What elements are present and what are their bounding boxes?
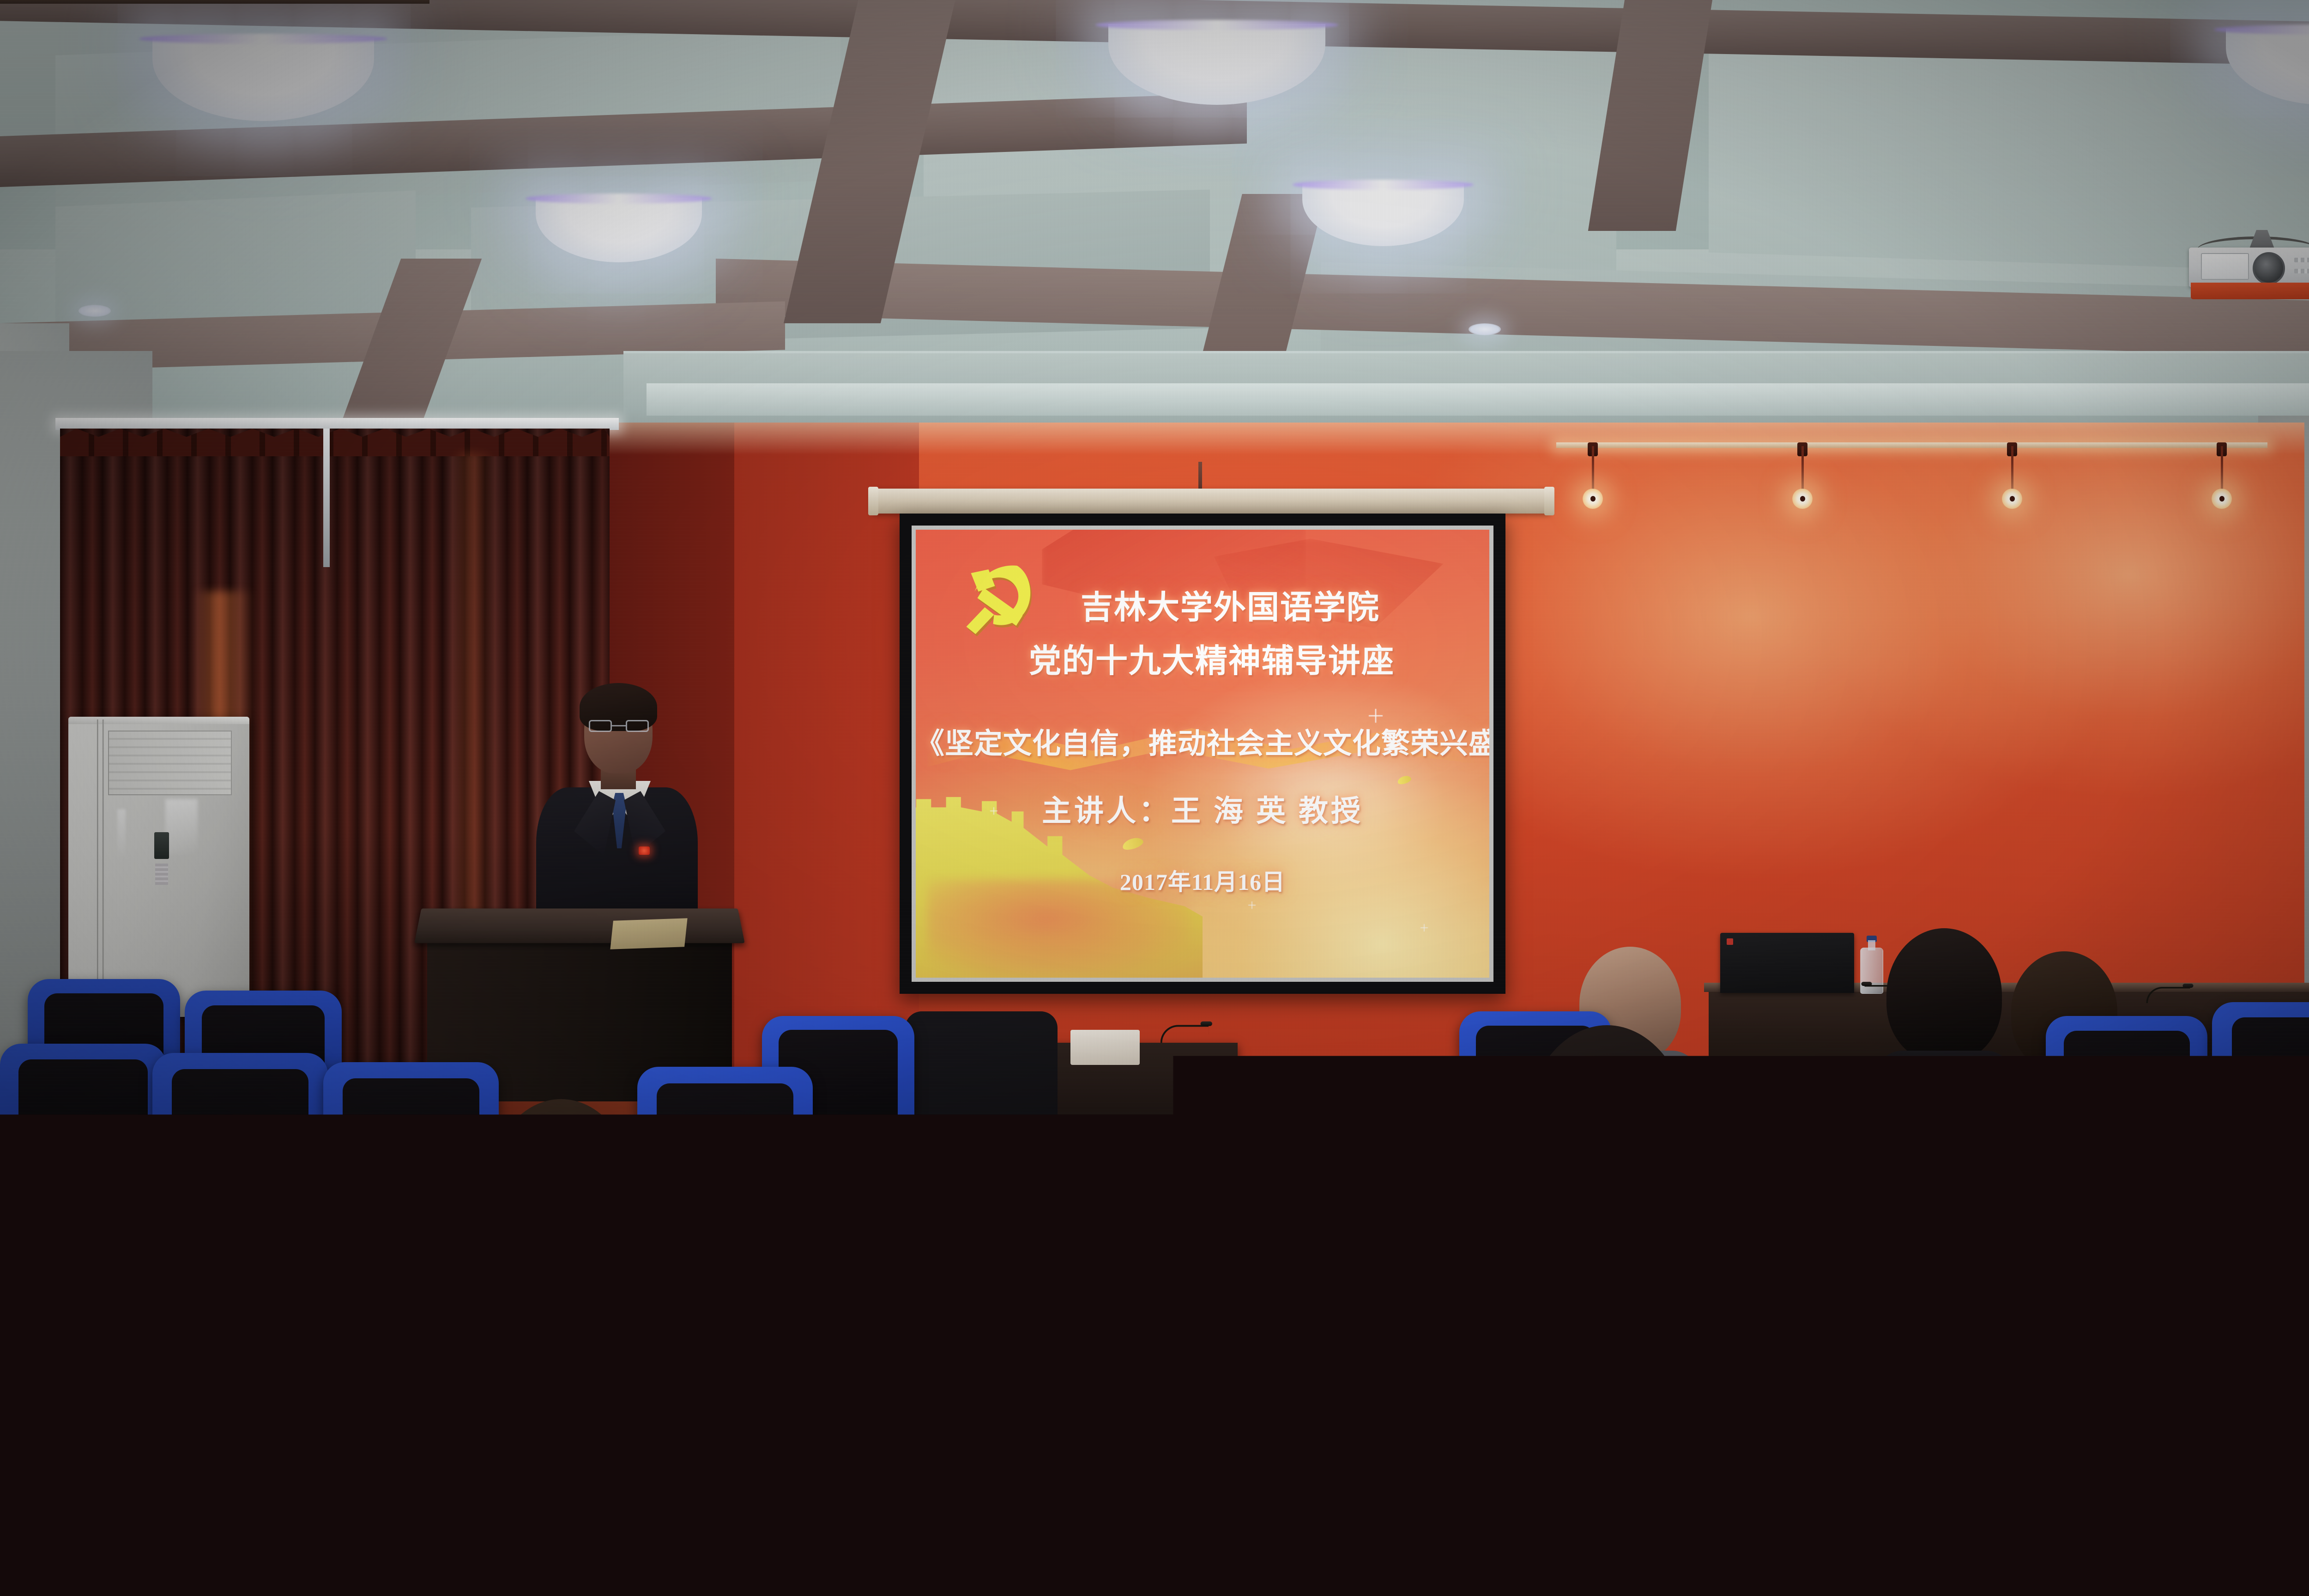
person-head xyxy=(1030,1247,1224,1505)
stage-chair xyxy=(905,1011,1058,1228)
mic-gooseneck xyxy=(2146,987,2190,1003)
roller-end-cap xyxy=(868,487,878,515)
auditorium-seat[interactable] xyxy=(1469,1413,1755,1596)
presentation-slide: 吉林大学外国语学院 党的十九大精神辅导讲座 《坚定文化自信，推动社会主义文化繁荣… xyxy=(916,530,1489,978)
ceiling-projector xyxy=(2179,230,2309,304)
ac-seam xyxy=(97,719,98,1006)
laptop-logo-icon xyxy=(1727,938,1733,945)
ac-reflection xyxy=(117,809,126,860)
roller-end-cap xyxy=(1544,487,1554,515)
podium-surface xyxy=(414,908,744,943)
air-conditioner-unit[interactable] xyxy=(68,717,249,1017)
back-table-microphone xyxy=(2146,985,2190,1003)
spotlight-stem xyxy=(1592,446,1594,490)
mic-capsule-icon xyxy=(1201,1022,1212,1026)
mic-capsule-icon xyxy=(1862,982,1872,986)
spotlight-bulb-icon xyxy=(1583,489,1603,509)
slide-date: 2017年11月16日 xyxy=(916,864,1489,897)
mic-capsule-icon xyxy=(2183,984,2194,988)
glasses-bridge xyxy=(612,725,626,726)
person-head xyxy=(2143,1330,2309,1570)
speaker-lapel-badge xyxy=(639,846,650,855)
ac-display-panel xyxy=(154,832,169,859)
ac-vent-grille xyxy=(108,731,232,795)
podium-notes xyxy=(610,918,687,949)
audience-member xyxy=(240,1413,526,1596)
slide-text-block: 吉林大学外国语学院 党的十九大精神辅导讲座 《坚定文化自信，推动社会主义文化繁荣… xyxy=(916,530,1489,978)
projection-screen-surface: 吉林大学外国语学院 党的十九大精神辅导讲座 《坚定文化自信，推动社会主义文化繁荣… xyxy=(912,526,1493,982)
projection-screen: 吉林大学外国语学院 党的十九大精神辅导讲座 《坚定文化自信，推动社会主义文化繁荣… xyxy=(900,514,1505,994)
glasses-lens xyxy=(626,720,649,732)
audience-member xyxy=(1016,1247,1238,1596)
audience-member xyxy=(2134,1330,2309,1596)
spotlight-stem xyxy=(1801,446,1804,490)
glasses-lens xyxy=(589,720,612,732)
slide-title-line-2: 党的十九大精神辅导讲座 xyxy=(916,635,1489,682)
curtain-gap-light xyxy=(323,429,330,567)
slide-title-line-1: 吉林大学外国语学院 xyxy=(916,581,1489,628)
desk-equipment-box xyxy=(1070,1030,1140,1065)
spotlight-stem xyxy=(2221,446,2223,490)
ceiling-downlight xyxy=(1469,323,1501,335)
ac-top-cover xyxy=(68,717,249,724)
person-head xyxy=(1552,1210,1718,1404)
screen-hanger xyxy=(1198,462,1202,490)
auditorium-seat[interactable] xyxy=(1210,1385,1487,1596)
audience-member xyxy=(1801,1404,2060,1596)
projector-lens-icon xyxy=(2253,252,2285,284)
ceiling-soffit-inner xyxy=(647,383,2309,416)
ac-button-row[interactable] xyxy=(155,864,168,885)
slide-speaker-line: 主讲人：王 海 英 教授 xyxy=(916,787,1489,830)
spotlight-bulb-icon xyxy=(2002,489,2022,509)
person-head xyxy=(1815,1404,2046,1596)
laptop-computer[interactable] xyxy=(1720,933,1854,993)
spotlight-bulb-icon xyxy=(2212,489,2232,509)
light-track-rail xyxy=(1556,442,2267,448)
audience-member xyxy=(1256,1081,1450,1339)
person-head xyxy=(254,1413,513,1596)
spotlight-bulb-icon xyxy=(1792,489,1813,509)
auditorium-seat[interactable] xyxy=(0,1376,212,1596)
person-head xyxy=(1886,928,2002,1062)
projector-vent xyxy=(2294,269,2309,273)
ac-seam xyxy=(103,719,104,1006)
ceiling-downlight xyxy=(79,305,111,317)
stage-front-desk-top xyxy=(0,0,429,4)
eyeglasses-icon xyxy=(589,720,649,732)
audience-member xyxy=(1542,1210,1727,1441)
desk-microphone xyxy=(1161,1022,1209,1043)
projector-base xyxy=(2191,283,2309,299)
projector-vent xyxy=(2294,258,2309,262)
slide-subject-title: 《坚定文化自信，推动社会主义文化繁荣兴盛》 xyxy=(916,720,1489,762)
auditorium-seat[interactable] xyxy=(517,1404,804,1596)
mic-gooseneck xyxy=(1161,1025,1209,1043)
person-head xyxy=(1265,1081,1441,1298)
lecture-hall-photo: 吉林大学外国语学院 党的十九大精神辅导讲座 《坚定文化自信，推动社会主义文化繁荣… xyxy=(0,0,2309,1596)
projector-panel xyxy=(2201,253,2249,280)
red-wall-cornice xyxy=(568,423,2304,455)
projection-screen-roller[interactable] xyxy=(872,489,1551,514)
spotlight-stem xyxy=(2011,446,2013,490)
ac-reflection xyxy=(165,799,198,854)
